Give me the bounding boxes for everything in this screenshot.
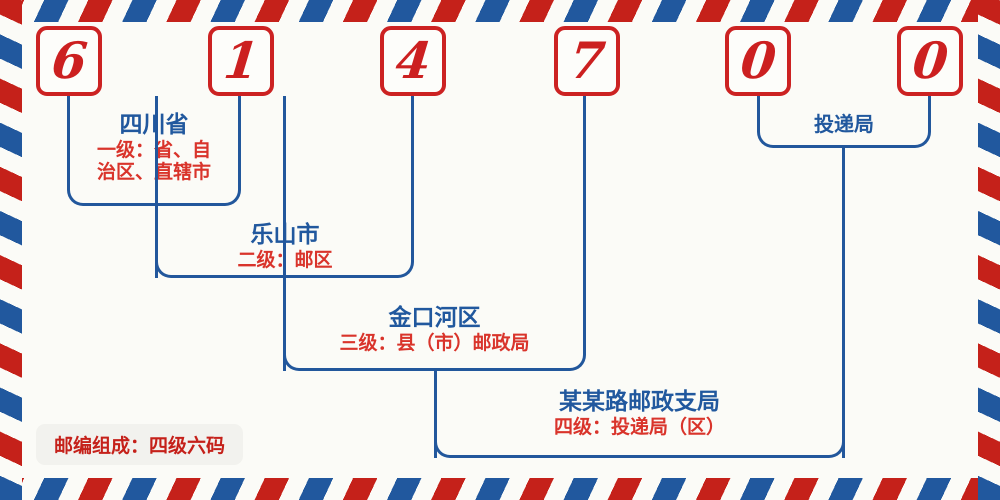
group-label-4: 某某路邮政支局 四级：投递局（区） xyxy=(434,389,845,438)
digit-value-4: 7 xyxy=(567,36,607,86)
envelope-postcode-diagram: 6 1 4 7 0 0 四川省 一级：省、自 治区、直辖市 乐山市 二级：邮区 … xyxy=(0,0,1000,500)
digit-box-2: 1 xyxy=(208,26,274,96)
digit-value-1: 6 xyxy=(49,36,89,86)
digit-box-3: 4 xyxy=(380,26,446,96)
group-title-3: 金口河区 xyxy=(283,305,586,332)
group-sub-4: 四级：投递局（区） xyxy=(434,416,845,438)
digit-value-5: 0 xyxy=(738,36,778,86)
airmail-border-bottom xyxy=(0,478,1000,500)
airmail-border-top xyxy=(0,0,1000,22)
digit-value-3: 4 xyxy=(393,36,433,86)
digit-value-2: 1 xyxy=(221,36,261,86)
delivery-office-label: 投递局 xyxy=(757,108,931,137)
digit-box-1: 6 xyxy=(36,26,102,96)
digit-box-4: 7 xyxy=(554,26,620,96)
airmail-border-left xyxy=(0,0,22,500)
group-label-3: 金口河区 三级：县（市）邮政局 xyxy=(283,305,586,354)
airmail-border-right xyxy=(978,0,1000,500)
group-sub-3-line-1: 三级：县（市）邮政局 xyxy=(283,332,586,354)
digit-value-6: 0 xyxy=(910,36,950,86)
group-sub-3: 三级：县（市）邮政局 xyxy=(283,332,586,354)
digit-box-6: 0 xyxy=(897,26,963,96)
group-sub-4-line-1: 四级：投递局（区） xyxy=(434,416,845,438)
footer-badge: 邮编组成：四级六码 xyxy=(36,424,243,465)
group-title-4: 某某路邮政支局 xyxy=(434,389,845,416)
digit-box-5: 0 xyxy=(725,26,791,96)
